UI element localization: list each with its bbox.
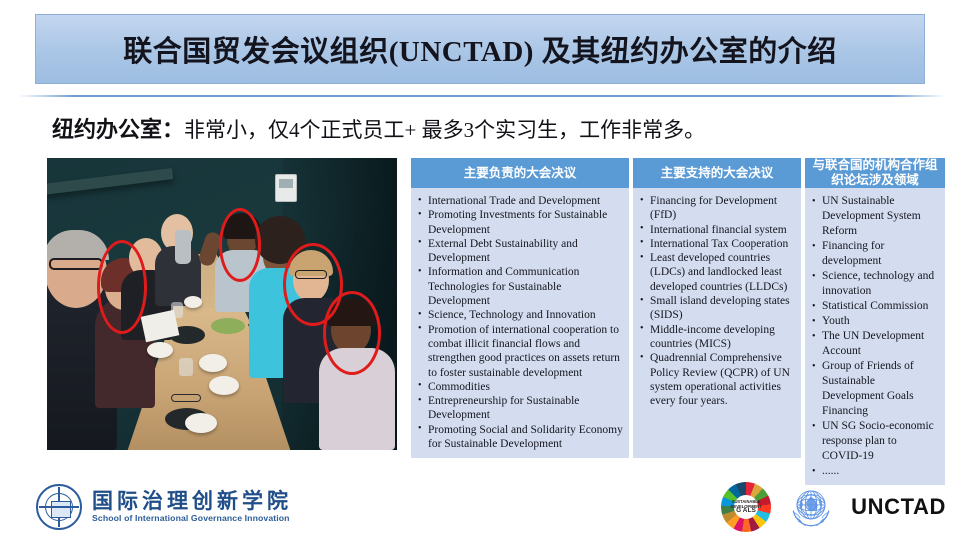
list-item: Commodities — [415, 380, 623, 394]
list-item: UN Sustainable Development System Reform — [809, 194, 939, 239]
institute-name-cn: 国际治理创新学院 — [92, 490, 292, 512]
institute-logo-block: 国际治理创新学院 School of International Governa… — [36, 484, 292, 530]
subtitle-rest: 非常小，仅4个正式员工+ 最多3个实习生，工作非常多。 — [184, 118, 705, 142]
list-item: Youth — [809, 314, 939, 329]
photo-cup-2 — [147, 342, 173, 358]
list-item: The UN Development Account — [809, 329, 939, 359]
resolutions-table: 主要负责的大会决议 International Trade and Develo… — [411, 158, 945, 458]
list-item: Promotion of international cooperation t… — [415, 323, 623, 380]
institute-name-en: School of International Governance Innov… — [92, 514, 292, 523]
table-column-1: 主要负责的大会决议 International Trade and Develo… — [411, 158, 629, 458]
list-item: Science, technology and innovation — [809, 269, 939, 299]
list-item: Information and Communication Technologi… — [415, 265, 623, 308]
column-header-3: 与联合国的机构合作组织论坛涉及领域 — [805, 158, 945, 188]
un-emblem-icon — [785, 481, 837, 533]
column-header-1: 主要负责的大会决议 — [411, 158, 629, 188]
column-body-3: UN Sustainable Development System Reform… — [805, 188, 945, 485]
list-item: Science, Technology and Innovation — [415, 308, 623, 322]
list-item: Promoting Social and Solidarity Economy … — [415, 423, 623, 452]
list-item: Small island developing states (SIDS) — [637, 294, 795, 323]
list-item: Promoting Investments for Sustainable De… — [415, 208, 623, 237]
list-item: Financing for development — [809, 239, 939, 269]
list-item: Least developed countries (LDCs) and lan… — [637, 251, 795, 294]
column-3-list: UN Sustainable Development System Reform… — [809, 194, 939, 479]
institute-name-block: 国际治理创新学院 School of International Governa… — [92, 490, 292, 523]
list-item: ...... — [809, 464, 939, 479]
list-item: External Debt Sustainability and Develop… — [415, 237, 623, 266]
photo-carafe — [175, 230, 191, 264]
photo-highlight-ellipse-4 — [323, 291, 381, 375]
table-column-3: 与联合国的机构合作组织论坛涉及领域 UN Sustainable Develop… — [805, 158, 945, 458]
list-item: Quadrennial Comprehensive Policy Review … — [637, 351, 795, 408]
photo-cup-5 — [185, 413, 217, 433]
photo-greens-plate — [211, 318, 245, 334]
list-item: International Trade and Development — [415, 194, 623, 208]
page-title: 联合国贸发会议组织(UNCTAD) 及其纽约办公室的介绍 — [123, 28, 836, 70]
photo-thermostat — [275, 174, 297, 202]
column-1-list: International Trade and Development Prom… — [415, 194, 623, 451]
column-2-list: Financing for Development (FfD) Internat… — [637, 194, 795, 408]
photo-highlight-ellipse-1 — [97, 240, 147, 334]
sdg-label-big: G ALS — [721, 509, 771, 514]
photo-eyeglasses-on-table — [171, 394, 201, 402]
table-column-2: 主要支持的大会决议 Financing for Development (FfD… — [633, 158, 801, 458]
column-header-2: 主要支持的大会决议 — [633, 158, 801, 188]
list-item: Financing for Development (FfD) — [637, 194, 795, 223]
photo-cup-3 — [199, 354, 227, 372]
list-item: International financial system — [637, 223, 795, 237]
list-item: Entrepreneurship for Sustainable Develop… — [415, 394, 623, 423]
sdg-wheel-label: SUSTAINABLE DEVELOPMENT G ALS — [721, 500, 771, 514]
sdg-wheel-icon: SUSTAINABLE DEVELOPMENT G ALS — [721, 482, 771, 532]
list-item: Statistical Commission — [809, 299, 939, 314]
photo-person-1-glasses — [49, 258, 103, 270]
list-item: International Tax Cooperation — [637, 237, 795, 251]
photo-cup-4 — [209, 376, 239, 395]
photo-cup-1 — [184, 296, 202, 308]
unctad-wordmark: UNCTAD — [851, 494, 946, 520]
subtitle-lead: 纽约办公室： — [52, 117, 184, 142]
partner-logos-block: SUSTAINABLE DEVELOPMENT G ALS — [721, 481, 946, 533]
office-team-photo — [47, 158, 397, 450]
photo-highlight-ellipse-2 — [219, 208, 261, 282]
list-item: UN SG Socio-economic response plan to CO… — [809, 419, 939, 464]
column-body-2: Financing for Development (FfD) Internat… — [633, 188, 801, 458]
column-body-1: International Trade and Development Prom… — [411, 188, 629, 458]
globe-seal-square — [51, 501, 71, 518]
title-divider — [18, 95, 945, 97]
photo-glass-2 — [179, 358, 193, 376]
list-item: Group of Friends of Sustainable Developm… — [809, 359, 939, 419]
subtitle-line: 纽约办公室：非常小，仅4个正式员工+ 最多3个实习生，工作非常多。 — [52, 112, 705, 144]
slide-title-banner: 联合国贸发会议组织(UNCTAD) 及其纽约办公室的介绍 — [35, 14, 925, 84]
list-item: Middle-income developing countries (MICS… — [637, 323, 795, 352]
globe-icon — [36, 484, 82, 530]
